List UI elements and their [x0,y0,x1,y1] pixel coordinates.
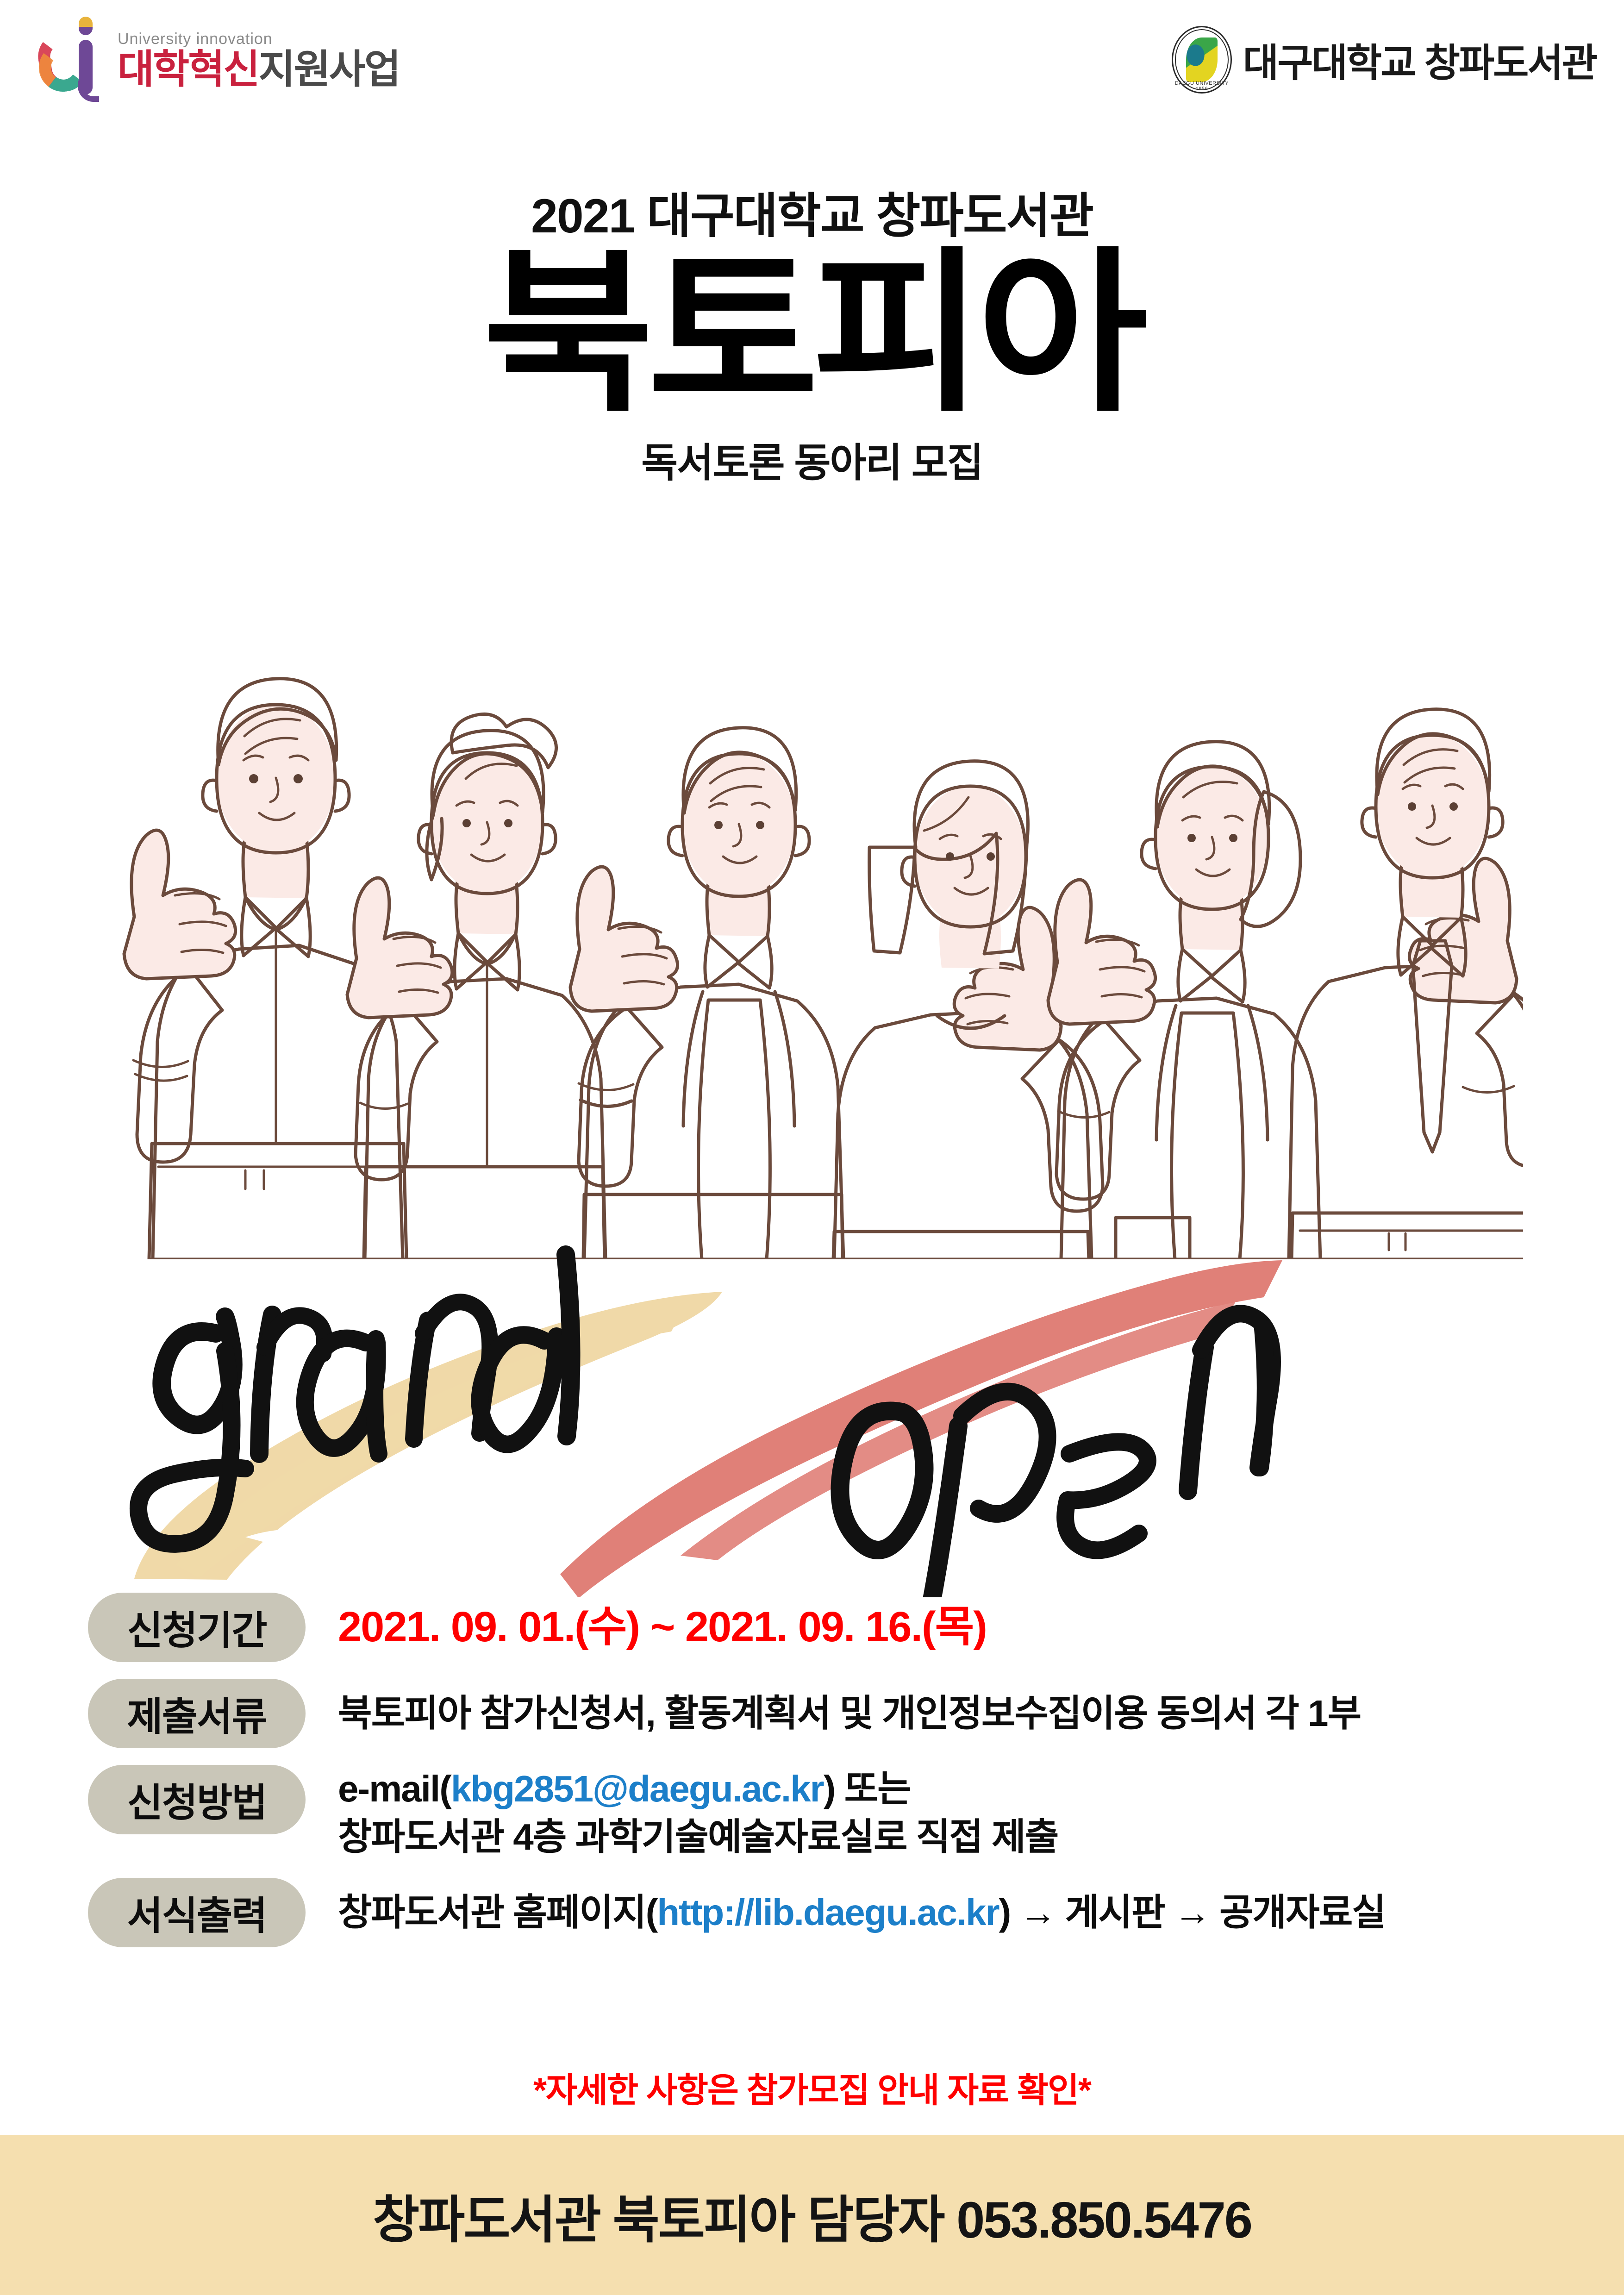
university-innovation-korean-red: 대학혁신 [118,47,258,92]
page-title: 북토피아 [0,248,1624,420]
seal-text: DAEGU UNIVERSITY 1956 [1172,81,1232,92]
label-application-period: 신청기간 [88,1593,306,1662]
title-block: 2021 대구대학교 창파도서관 북토피아 독서토론 동아리 모집 [0,192,1624,488]
detail-note: *자세한 사항은 참가모집 안내 자료 확인* [0,2063,1624,2112]
person-3 [570,728,843,1259]
university-seal-icon: DAEGU UNIVERSITY 1956 [1172,26,1232,94]
label-form-download: 서식출력 [88,1878,306,1947]
label-application-method: 신청방법 [88,1765,306,1834]
info-row-application-method: 신청방법 e-mail(kbg2851@daegu.ac.kr) 또는 창파도서… [88,1765,1569,1861]
person-6 [1289,709,1523,1259]
info-row-application-period: 신청기간 2021. 09. 01.(수) ~ 2021. 09. 16.(목) [88,1593,1569,1662]
people-thumbs-up-illustration: .ln { fill:none; stroke:#6b4a3c; stroke-… [106,597,1523,1259]
email-link[interactable]: kbg2851@daegu.ac.kr [451,1768,824,1809]
value-required-documents: 북토피아 참가신청서, 활동계획서 및 개인정보수집이용 동의서 각 1부 [306,1679,1569,1748]
person-2 [347,714,606,1259]
open-word [840,1313,1272,1597]
poster-subtitle: 독서토론 동아리 모집 [0,430,1624,488]
homepage-prefix: 창파도서관 홈페이지( [338,1892,657,1933]
university-innovation-logo: University innovation 대학혁신지원사업 [36,16,400,94]
value-application-method: e-mail(kbg2851@daegu.ac.kr) 또는 창파도서관 4층 … [306,1765,1569,1861]
label-required-documents: 제출서류 [88,1679,306,1748]
poster-header: University innovation 대학혁신지원사업 DAEGU UNI… [0,0,1624,134]
info-table: 신청기간 2021. 09. 01.(수) ~ 2021. 09. 16.(목)… [88,1593,1569,1964]
daegu-university-library-logo: DAEGU UNIVERSITY 1956 대구대학교 창파도서관 [1172,16,1596,94]
poster-footer: 창파도서관 북토피아 담당자 053.850.5476 [0,2135,1624,2295]
application-period-dates: 2021. 09. 01.(수) ~ 2021. 09. 16.(목) [338,1603,987,1651]
grand-open-brush-lettering [106,1194,1523,1597]
required-documents-text: 북토피아 참가신청서, 활동계획서 및 개인정보수집이용 동의서 각 1부 [338,1693,1361,1734]
homepage-path-suffix: ) → 게시판 → 공개자료실 [999,1892,1385,1933]
university-innovation-korean-gray: 지원사업 [258,47,399,92]
email-prefix: e-mail( [338,1768,451,1809]
info-row-required-documents: 제출서류 북토피아 참가신청서, 활동계획서 및 개인정보수집이용 동의서 각 … [88,1679,1569,1748]
university-innovation-english-label: University innovation [118,31,400,47]
in-person-submission-text: 창파도서관 4층 과학기술예술자료실로 직접 제출 [338,1816,1058,1857]
ui-mark-icon [36,16,106,94]
poster-eyebrow: 2021 대구대학교 창파도서관 [0,192,1624,240]
info-row-form-download: 서식출력 창파도서관 홈페이지(http://lib.daegu.ac.kr) … [88,1878,1569,1947]
value-form-download: 창파도서관 홈페이지(http://lib.daegu.ac.kr) → 게시판… [306,1878,1569,1947]
value-application-period: 2021. 09. 01.(수) ~ 2021. 09. 16.(목) [306,1593,1569,1662]
email-suffix: ) 또는 [824,1768,911,1809]
contact-info: 창파도서관 북토피아 담당자 053.850.5476 [373,2178,1251,2252]
library-name-label: 대구대학교 창파도서관 [1243,32,1596,88]
library-homepage-link[interactable]: http://lib.daegu.ac.kr [657,1892,999,1933]
